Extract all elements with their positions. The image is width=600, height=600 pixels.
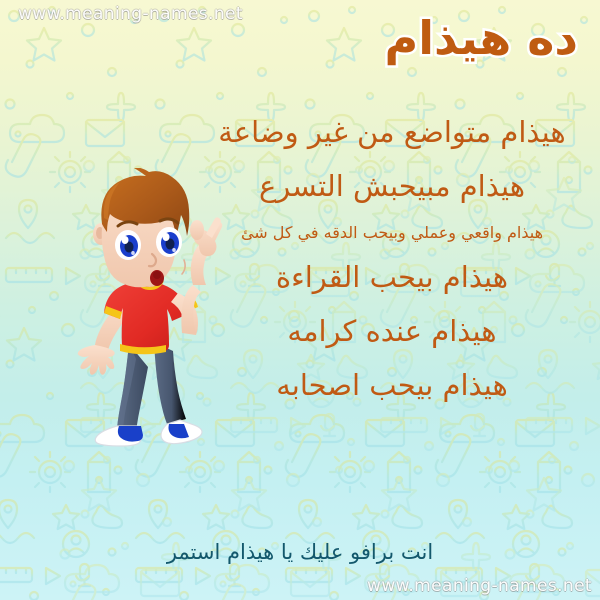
sneakers xyxy=(95,420,202,446)
page-title: ده هيذام xyxy=(384,14,578,62)
trait-list: هيذام متواضع من غير وضاعة هيذام مبيحبش ا… xyxy=(200,118,584,424)
watermark-top: www.meaning-names.net xyxy=(18,4,243,24)
trait-line: هيذام مبيحبش التسرع xyxy=(200,172,584,202)
footer-message: انت برافو عليك يا هيذام استمر xyxy=(0,540,600,564)
eye-left xyxy=(115,230,141,260)
ear-right xyxy=(190,220,204,240)
trait-line: هيذام متواضع من غير وضاعة xyxy=(200,118,584,148)
legs xyxy=(117,342,186,431)
trait-line: هيذام واقعي وعملي وبيحب الدقه في كل شئ xyxy=(200,225,584,241)
cheek-line xyxy=(182,260,185,274)
cartoon-boy-thinking-illustration xyxy=(66,168,236,450)
trait-line: هيذام عنده كرامه xyxy=(200,317,584,347)
trait-line: هيذام بيحب اصحابه xyxy=(200,371,584,401)
trait-line: هيذام بيحب القراءة xyxy=(200,263,584,293)
watermark-bottom: www.meaning-names.net xyxy=(367,576,592,596)
name-meaning-card: www.meaning-names.net www.meaning-names.… xyxy=(0,0,600,600)
eye-right xyxy=(156,227,182,257)
